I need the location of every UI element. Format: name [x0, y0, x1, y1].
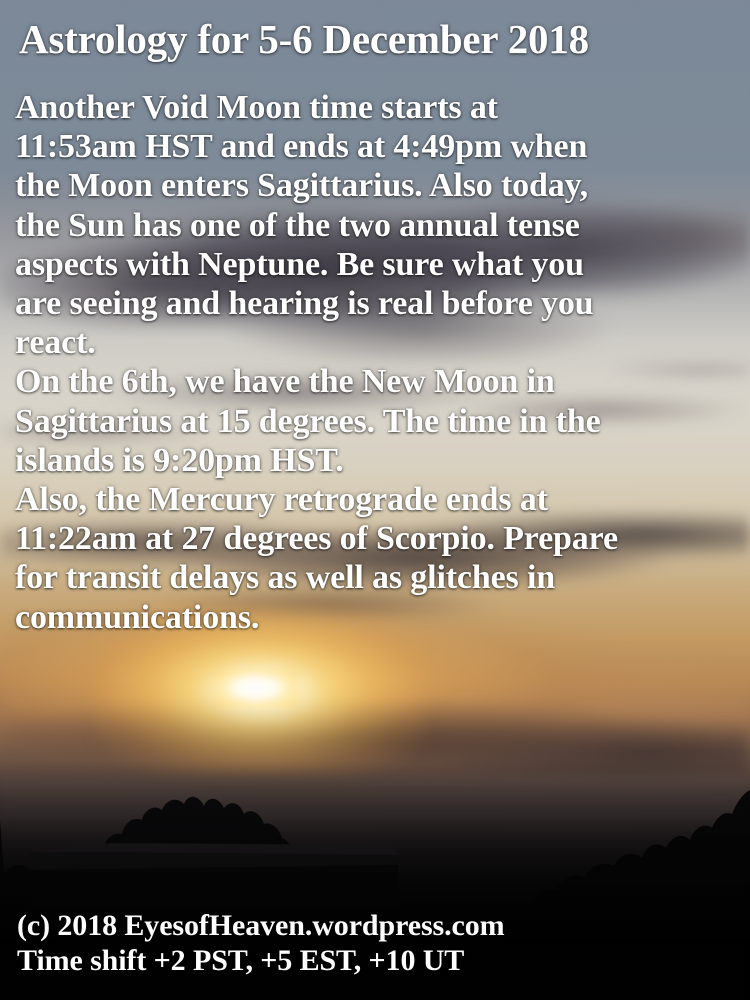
body-line: aspects with Neptune. Be sure what you [15, 245, 737, 284]
copyright-line: (c) 2018 EyesofHeaven.wordpress.com [17, 908, 737, 943]
astrology-body-text: Another Void Moon time starts at 11:53am… [15, 88, 737, 637]
body-line: the Moon enters Sagittarius. Also today, [15, 166, 737, 205]
body-line: are seeing and hearing is real before yo… [15, 284, 737, 323]
time-shift-line: Time shift +2 PST, +5 EST, +10 UT [17, 943, 737, 978]
body-line: react. [15, 323, 737, 362]
body-line: 11:22am at 27 degrees of Scorpio. Prepar… [15, 519, 737, 558]
page-title: Astrology for 5-6 December 2018 [19, 16, 734, 62]
body-line: communications. [15, 598, 737, 637]
body-line: for transit delays as well as glitches i… [15, 558, 737, 597]
footer-credit-block: (c) 2018 EyesofHeaven.wordpress.com Time… [17, 908, 737, 978]
body-line: the Sun has one of the two annual tense [15, 206, 737, 245]
body-line: On the 6th, we have the New Moon in [15, 362, 737, 401]
astrology-poster: Astrology for 5-6 December 2018 Another … [0, 0, 750, 1000]
body-line: Another Void Moon time starts at [15, 88, 737, 127]
body-line: Sagittarius at 15 degrees. The time in t… [15, 402, 737, 441]
text-overlay: Astrology for 5-6 December 2018 Another … [0, 0, 750, 1000]
body-line: Also, the Mercury retrograde ends at [15, 480, 737, 519]
body-line: 11:53am HST and ends at 4:49pm when [15, 127, 737, 166]
body-line: islands is 9:20pm HST. [15, 441, 737, 480]
